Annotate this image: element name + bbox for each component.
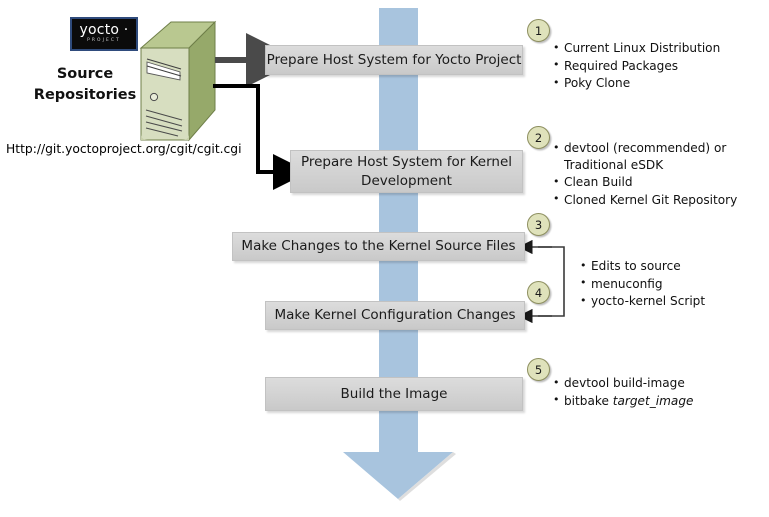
step-box-4[interactable]: Make Kernel Configuration Changes xyxy=(265,301,525,330)
step-box-3[interactable]: Make Changes to the Kernel Source Files xyxy=(232,232,525,261)
step-number-3: 3 xyxy=(527,213,550,236)
diagram-canvas: yocto · PROJECT Source Repositories Http… xyxy=(0,0,769,517)
list-item: menuconfig xyxy=(580,276,705,293)
step-number-2: 2 xyxy=(527,126,550,149)
bitbake-target-placeholder: target_image xyxy=(613,394,694,408)
list-item: bitbake target_image xyxy=(553,393,693,410)
list-item: Required Packages xyxy=(553,58,720,75)
steps-3-4-bullets: Edits to source menuconfig yocto-kernel … xyxy=(580,258,705,311)
list-item: Clean Build xyxy=(553,174,737,191)
list-item: Cloned Kernel Git Repository xyxy=(553,192,737,209)
logo-wordmark: yocto · xyxy=(80,24,129,37)
step-1-bullets: Current Linux Distribution Required Pack… xyxy=(553,40,720,93)
list-item: yocto-kernel Script xyxy=(580,293,705,310)
source-label-line-1: Source xyxy=(20,64,150,85)
logo-subtext: PROJECT xyxy=(87,38,121,44)
step-number-1: 1 xyxy=(527,19,550,42)
step-5-bullets: devtool build-image bitbake target_image xyxy=(553,375,693,410)
step-number-5: 5 xyxy=(527,358,550,381)
source-repositories-label: Source Repositories xyxy=(20,64,150,106)
yocto-project-logo: yocto · PROJECT xyxy=(70,17,138,51)
step-box-1[interactable]: Prepare Host System for Yocto Project xyxy=(265,45,523,75)
list-item: devtool (recommended) or Traditional eSD… xyxy=(553,140,737,173)
step-box-2[interactable]: Prepare Host System for Kernel Developme… xyxy=(290,150,523,193)
source-repository-url: Http://git.yoctoproject.org/cgit/cgit.cg… xyxy=(6,142,242,156)
bitbake-command-prefix: bitbake xyxy=(564,394,613,408)
step-number-4: 4 xyxy=(527,281,550,304)
source-label-line-2: Repositories xyxy=(20,85,150,106)
list-item: Current Linux Distribution xyxy=(553,40,720,57)
list-item: devtool build-image xyxy=(553,375,693,392)
list-item: Edits to source xyxy=(580,258,705,275)
step-2-bullets: devtool (recommended) or Traditional eSD… xyxy=(553,140,737,209)
step-box-5[interactable]: Build the Image xyxy=(265,377,523,411)
list-item: Poky Clone xyxy=(553,75,720,92)
